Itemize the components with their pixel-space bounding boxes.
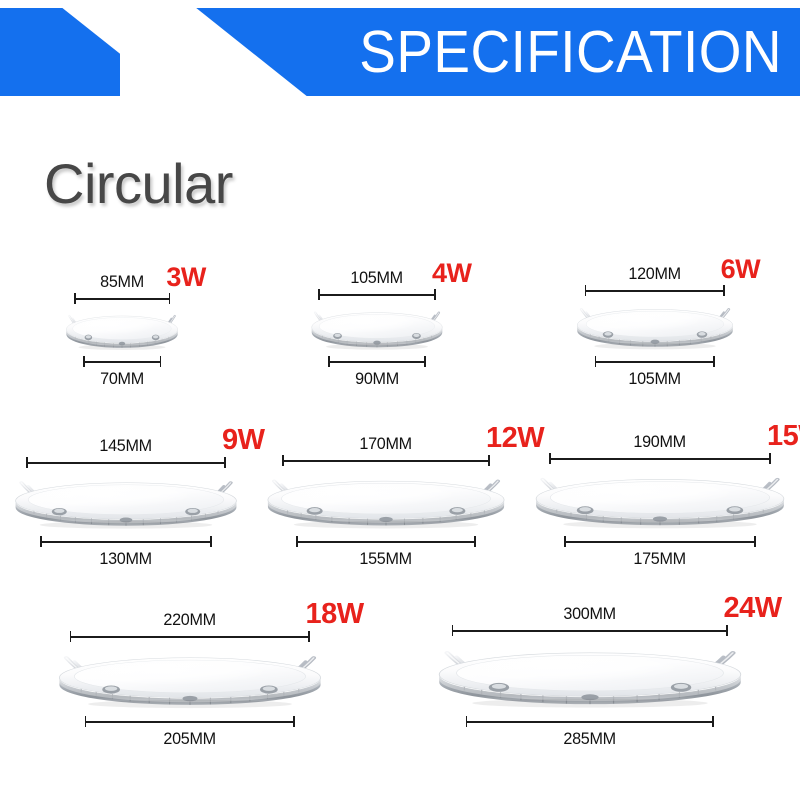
dimension-cap-left — [74, 293, 76, 304]
dimension-cap-left — [83, 356, 85, 367]
specification-page: SPECIFICATION Circular 85MM3W — [0, 0, 800, 800]
inner-dimension-bar — [40, 536, 212, 547]
inner-dimension-label: 130MM — [100, 550, 152, 568]
dimension-top-row: 170MM12W — [263, 435, 509, 455]
product-item: 105MM4W — [309, 269, 445, 388]
dimension-cap-right — [488, 455, 490, 466]
led-panel-light — [54, 646, 326, 714]
inner-dimension-bar — [85, 716, 295, 727]
led-panel-light — [64, 308, 180, 354]
header-banner: SPECIFICATION — [0, 0, 800, 110]
outer-dimension-bar — [585, 285, 725, 296]
panel-glow — [291, 485, 453, 507]
led-panel-illustration — [263, 470, 509, 534]
outer-dimension-label: 190MM — [634, 433, 686, 451]
section-title: Circular — [44, 156, 233, 212]
dimension-cap-right — [169, 293, 171, 304]
panel-drop-shadow — [563, 521, 757, 529]
dimension-cap-right — [424, 356, 426, 367]
outer-dimension-label: 170MM — [360, 435, 412, 453]
inner-dimension-bar — [595, 356, 715, 367]
dimension-cap-right — [723, 285, 725, 296]
inner-dimension-label: 70MM — [100, 370, 144, 388]
inner-dimension-bar — [466, 716, 714, 727]
inner-dimension-bar — [83, 356, 161, 367]
product-item: 85MM3W — [64, 273, 180, 388]
outer-dimension-label: 220MM — [163, 611, 215, 629]
panel-drop-shadow — [294, 521, 479, 529]
dimension-cap-left — [585, 285, 587, 296]
inner-dimension-label: 175MM — [634, 550, 686, 568]
product-item: 190MM15W — [531, 433, 789, 568]
dimension-cap-left — [318, 289, 320, 300]
wattage-label: 3W — [166, 264, 206, 291]
outer-dimension-bar — [282, 455, 490, 466]
led-panel-light — [433, 640, 747, 714]
product-item: 145MM9W — [11, 437, 241, 568]
outer-dimension-bar — [70, 631, 310, 642]
outer-dimension-label: 120MM — [628, 265, 680, 283]
panel-drop-shadow — [40, 521, 213, 528]
panel-glow — [37, 486, 189, 507]
product-item: 220MM18W — [54, 611, 326, 748]
inner-dimension-bar — [564, 536, 756, 547]
panel-drop-shadow — [326, 344, 428, 350]
dimension-cap-left — [26, 457, 28, 468]
dimension-top-row: 190MM15W — [531, 433, 789, 453]
dimension-cap-left — [282, 455, 284, 466]
dimension-cap-left — [549, 453, 551, 464]
page-title: SPECIFICATION — [55, 8, 782, 96]
inner-dimension-label: 105MM — [628, 370, 680, 388]
dimension-cap-left — [296, 536, 298, 547]
led-panel-illustration — [54, 646, 326, 714]
panel-drop-shadow — [594, 343, 716, 349]
product-row: 145MM9W — [0, 418, 800, 568]
dimension-cap-right — [726, 625, 728, 636]
dimension-cap-right — [224, 457, 226, 468]
dimension-cap-right — [210, 536, 212, 547]
inner-dimension-label: 205MM — [163, 730, 215, 748]
dimension-cap-right — [434, 289, 436, 300]
dimension-cap-right — [293, 716, 295, 727]
led-panel-light — [574, 300, 736, 354]
inner-dimension-label: 285MM — [563, 730, 615, 748]
inner-dimension-label: 90MM — [355, 370, 399, 388]
panel-glow — [469, 657, 676, 683]
dimension-cap-left — [40, 536, 42, 547]
dimension-top-row: 145MM9W — [11, 437, 241, 457]
dimension-cap-right — [160, 356, 162, 367]
wattage-label: 15W — [767, 422, 800, 451]
dimension-top-row: 85MM3W — [64, 273, 180, 293]
dimension-cap-right — [769, 453, 771, 464]
dimension-cap-left — [70, 631, 72, 642]
dimension-cap-right — [713, 356, 715, 367]
led-panel-illustration — [574, 300, 736, 354]
dimension-cap-right — [308, 631, 310, 642]
dimension-cap-right — [474, 536, 476, 547]
led-panel-illustration — [11, 472, 241, 534]
dimension-top-row: 120MM6W — [574, 265, 736, 285]
panel-glow — [78, 319, 155, 335]
outer-dimension-label: 145MM — [100, 437, 152, 455]
panel-glow — [325, 315, 415, 332]
outer-dimension-bar — [74, 293, 170, 304]
led-panel-illustration — [433, 640, 747, 714]
product-row: 85MM3W — [0, 248, 800, 388]
wattage-label: 18W — [306, 600, 364, 629]
dimension-cap-left — [452, 625, 454, 636]
led-panel-light — [11, 472, 241, 534]
dimension-cap-left — [595, 356, 597, 367]
panel-glow — [592, 312, 699, 331]
dimension-top-row: 105MM4W — [309, 269, 445, 289]
outer-dimension-bar — [26, 457, 226, 468]
led-panel-illustration — [531, 468, 789, 534]
outer-dimension-label: 300MM — [563, 605, 615, 623]
panel-drop-shadow — [88, 700, 292, 708]
inner-dimension-bar — [296, 536, 476, 547]
product-row: 220MM18W — [0, 598, 800, 748]
outer-dimension-bar — [452, 625, 728, 636]
led-panel-light — [263, 470, 509, 534]
wattage-label: 4W — [432, 260, 472, 287]
outer-dimension-label: 105MM — [351, 269, 403, 287]
inner-dimension-bar — [328, 356, 426, 367]
dimension-cap-left — [466, 716, 468, 727]
led-panel-light — [531, 468, 789, 534]
wattage-label: 9W — [222, 426, 265, 455]
panel-glow — [561, 483, 731, 506]
dimension-cap-left — [328, 356, 330, 367]
dimension-cap-right — [712, 716, 714, 727]
panel-glow — [85, 662, 265, 686]
panel-drop-shadow — [79, 345, 166, 351]
inner-dimension-label: 155MM — [360, 550, 412, 568]
dimension-top-row: 300MM24W — [433, 605, 747, 625]
led-panel-illustration — [309, 304, 445, 354]
panel-drop-shadow — [472, 699, 708, 708]
outer-dimension-bar — [549, 453, 771, 464]
outer-dimension-bar — [318, 289, 436, 300]
led-panel-illustration — [64, 308, 180, 354]
dimension-cap-left — [564, 536, 566, 547]
dimension-top-row: 220MM18W — [54, 611, 326, 631]
wattage-label: 6W — [721, 256, 761, 283]
product-item: 120MM6W — [574, 265, 736, 388]
product-item: 300MM24W — [433, 605, 747, 748]
wattage-label: 24W — [724, 594, 782, 623]
dimension-cap-right — [754, 536, 756, 547]
led-panel-light — [309, 304, 445, 354]
outer-dimension-label: 85MM — [100, 273, 144, 291]
product-item: 170MM12W — [263, 435, 509, 568]
dimension-cap-left — [85, 716, 87, 727]
